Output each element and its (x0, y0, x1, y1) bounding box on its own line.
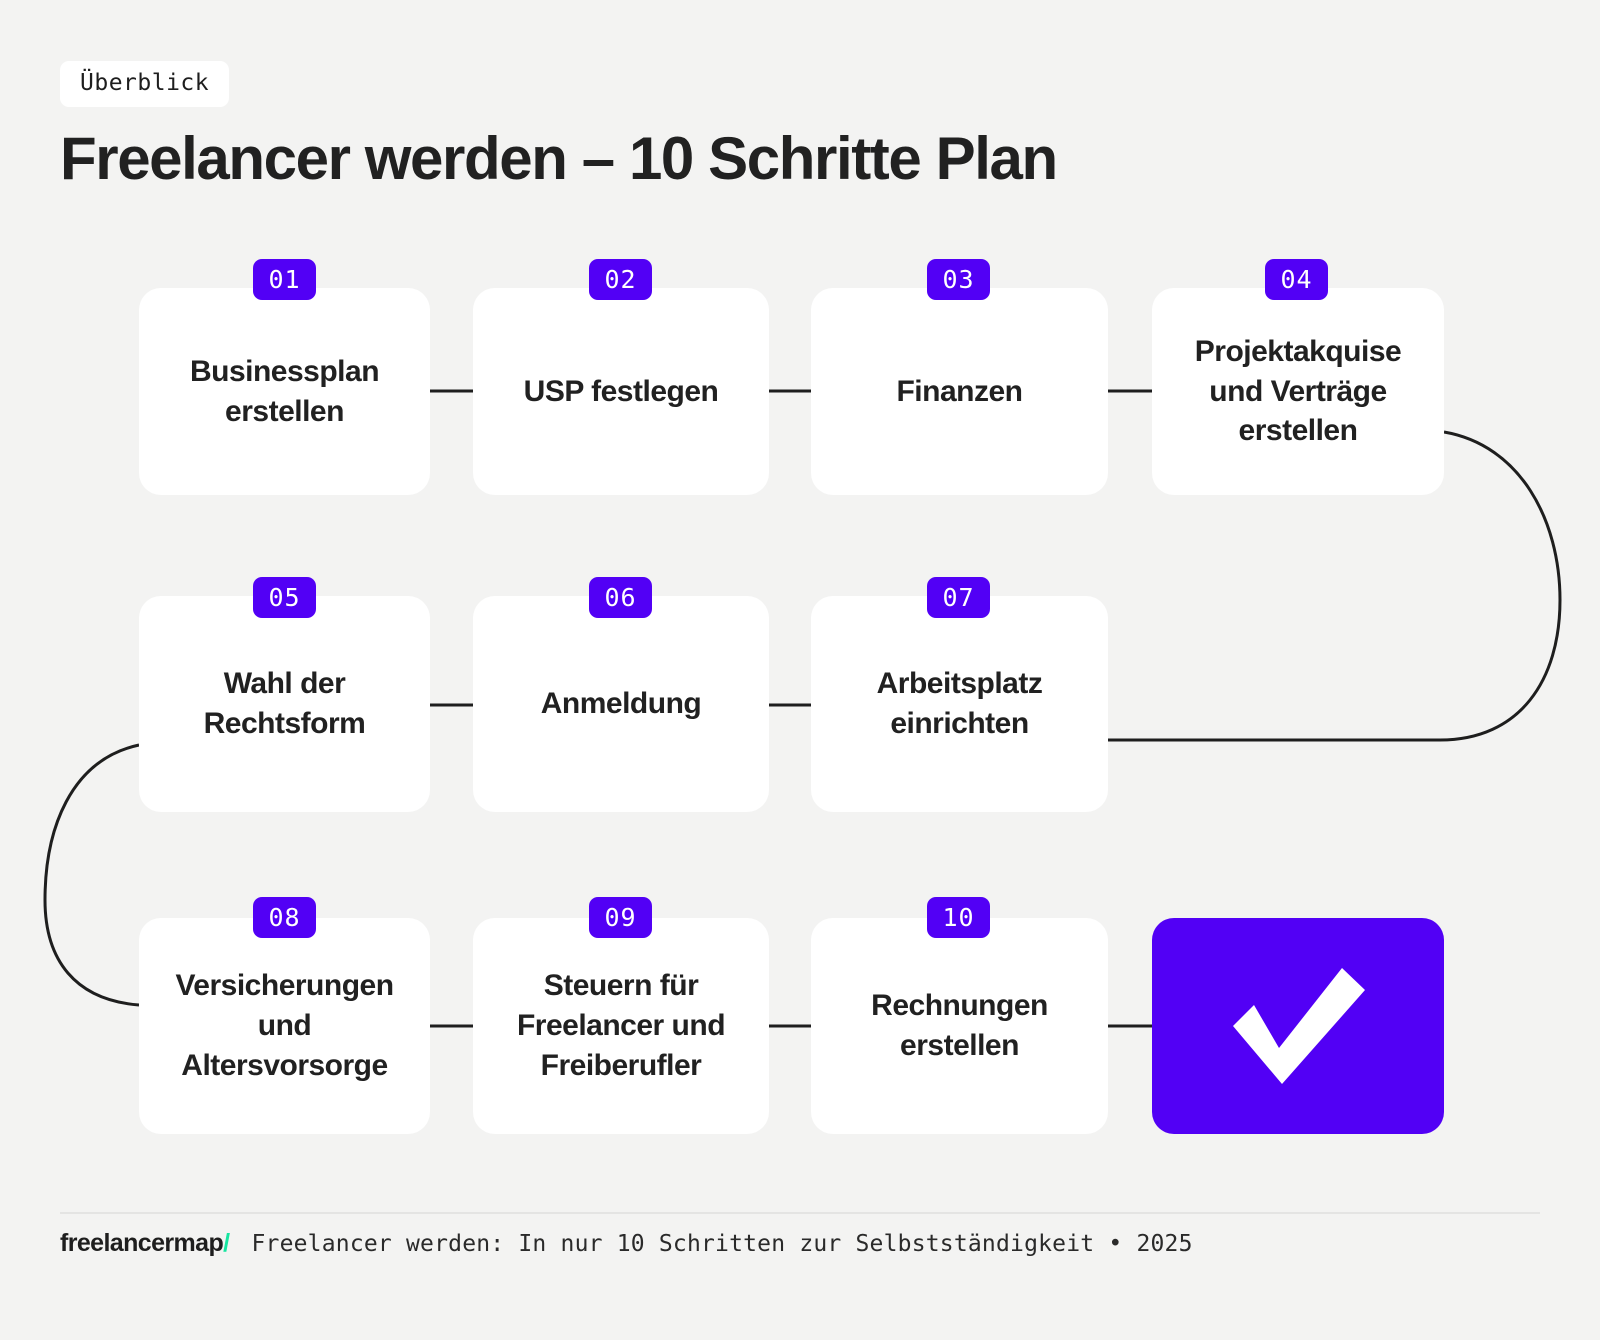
footer-caption: Freelancer werden: In nur 10 Schritten z… (251, 1231, 1192, 1257)
eyebrow-badge: Überblick (60, 61, 229, 107)
step-badge-05: 05 (253, 577, 316, 618)
step-badge-02: 02 (589, 259, 652, 300)
step-card-08-label: Versicherungen und Altersvorsorge (139, 966, 430, 1086)
step-badge-06: 06 (589, 577, 652, 618)
step-card-02-label: USP festlegen (510, 372, 733, 412)
step-card-01-label: Businessplan erstellen (139, 352, 430, 432)
brand-slash-icon: / (223, 1229, 229, 1257)
step-badge-03: 03 (927, 259, 990, 300)
step-card-04[interactable]: Projektakquise und Verträge erstellen (1152, 288, 1444, 495)
footer-divider (60, 1212, 1540, 1214)
step-card-10-label: Rechnungen erstellen (811, 986, 1108, 1066)
step-card-06[interactable]: Anmeldung (473, 596, 769, 812)
infographic-page: Überblick Freelancer werden – 10 Schritt… (0, 0, 1600, 1340)
step-card-02[interactable]: USP festlegen (473, 288, 769, 495)
checkmark-icon (1198, 956, 1398, 1096)
step-card-04-label: Projektakquise und Verträge erstellen (1152, 332, 1444, 452)
step-card-01[interactable]: Businessplan erstellen (139, 288, 430, 495)
step-card-07[interactable]: Arbeitsplatz einrichten (811, 596, 1108, 812)
brand-name: freelancermap (60, 1229, 223, 1257)
step-card-08[interactable]: Versicherungen und Altersvorsorge (139, 918, 430, 1134)
step-card-10[interactable]: Rechnungen erstellen (811, 918, 1108, 1134)
step-card-09-label: Steuern für Freelancer und Freiberufler (473, 966, 769, 1086)
completion-card[interactable] (1152, 918, 1444, 1134)
step-card-06-label: Anmeldung (527, 684, 716, 724)
brand-logo: freelancermap/ (60, 1229, 229, 1258)
footer: freelancermap/ Freelancer werden: In nur… (60, 1229, 1193, 1258)
step-card-09[interactable]: Steuern für Freelancer und Freiberufler (473, 918, 769, 1134)
connector-7-8-curve (45, 745, 139, 1005)
step-card-03-label: Finanzen (882, 372, 1036, 412)
step-card-05-label: Wahl der Rechtsform (139, 664, 430, 744)
step-badge-07: 07 (927, 577, 990, 618)
step-card-03[interactable]: Finanzen (811, 288, 1108, 495)
step-badge-01: 01 (253, 259, 316, 300)
step-badge-08: 08 (253, 897, 316, 938)
step-badge-10: 10 (927, 897, 990, 938)
step-card-07-label: Arbeitsplatz einrichten (811, 664, 1108, 744)
page-title: Freelancer werden – 10 Schritte Plan (60, 124, 1057, 193)
step-card-05[interactable]: Wahl der Rechtsform (139, 596, 430, 812)
step-badge-04: 04 (1265, 259, 1328, 300)
step-badge-09: 09 (589, 897, 652, 938)
